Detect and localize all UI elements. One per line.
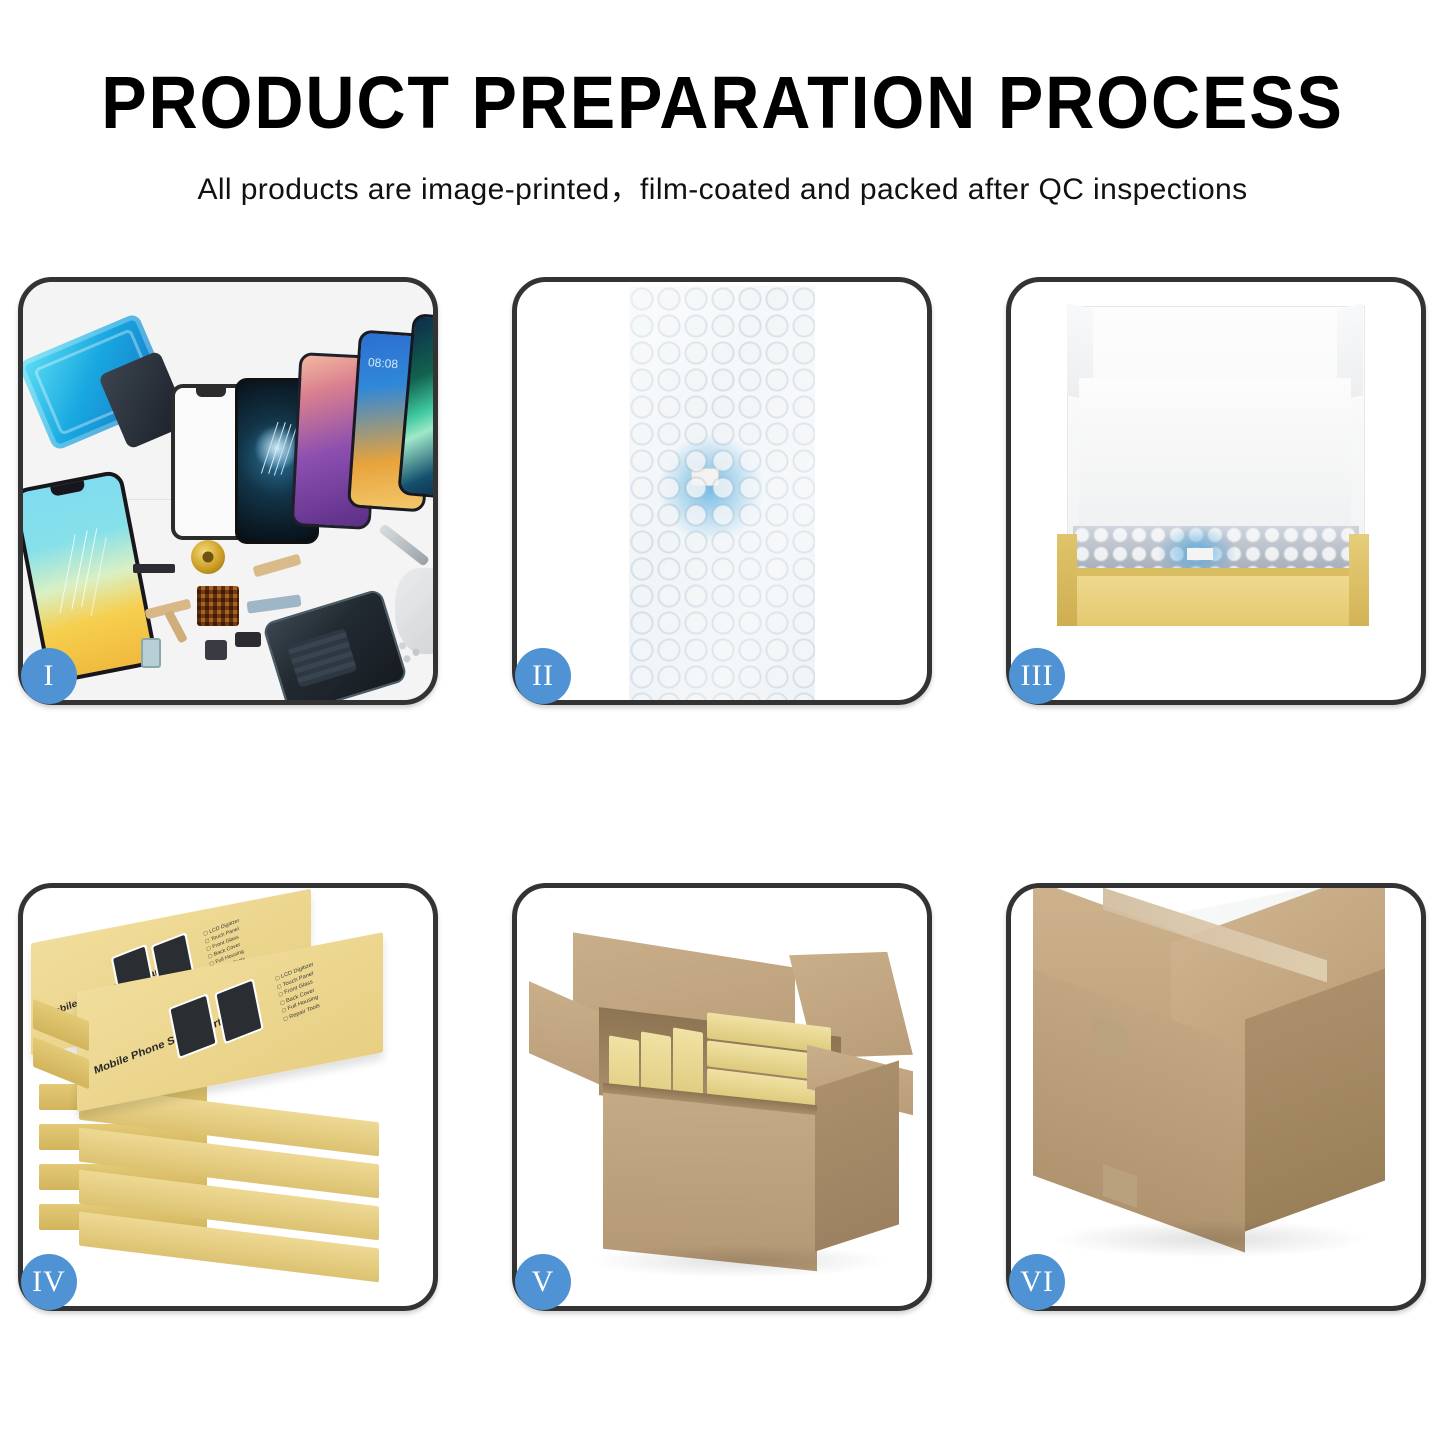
carton-shadow [589,1244,889,1278]
step-panel-4[interactable]: Mobile Phone Spare Parts LCD Digitizer T… [18,883,438,1311]
step-badge-4: IV [21,1254,77,1310]
step-panel-6[interactable]: VI [1006,883,1426,1311]
process-row-2: Mobile Phone Spare Parts LCD Digitizer T… [0,883,1445,1311]
step-panel-5[interactable]: V [512,883,932,1311]
plastic-sheen [629,286,815,700]
step-badge-3: III [1009,648,1065,704]
process-steps-grid: 08:08 I [0,277,1445,1311]
box-right-wall [1349,534,1369,626]
box-left-wall [1057,534,1077,626]
screws-part [395,638,425,664]
process-row-1: 08:08 I [0,277,1445,705]
earpiece-mesh-part [133,564,175,573]
page-title: PRODUCT PREPARATION PROCESS [58,66,1387,140]
ic-chip-part [197,586,239,626]
connector-part-1 [235,632,261,647]
step-panel-3[interactable]: III [1006,277,1426,705]
bubble-wrap-sleeve [629,286,815,700]
carton-side-face [815,1060,899,1251]
step-5-image [517,888,927,1306]
step-6-image [1011,888,1421,1306]
step-panel-2[interactable]: II [512,277,932,705]
qc-sticker [1187,548,1213,560]
page-subtitle: All products are image-printed，film-coat… [0,164,1445,208]
step-badge-6: VI [1009,1254,1065,1310]
step-1-image: 08:08 [23,282,433,700]
box-checklist: LCD Digitizer Touch Panel Front Glass Ba… [274,961,322,1025]
sim-tray-part [141,638,161,668]
box-screen-image [214,978,264,1044]
step-panel-1[interactable]: 08:08 I [18,277,438,705]
phone-clock-label: 08:08 [368,355,399,371]
step-badge-2: II [515,648,571,704]
step-3-image [1011,282,1421,700]
box-screen-image [168,993,218,1059]
foam-sheet [1079,378,1351,526]
speaker-coil-part [191,540,225,574]
step-badge-1: I [21,648,77,704]
step-badge-5: V [515,1254,571,1310]
step-2-image [517,282,927,700]
page-header: PRODUCT PREPARATION PROCESS All products… [0,0,1445,208]
carton-shadow [1051,1220,1371,1258]
step-4-image: Mobile Phone Spare Parts LCD Digitizer T… [23,888,433,1306]
box-front-wall [1057,576,1369,626]
connector-part-2 [205,640,227,660]
